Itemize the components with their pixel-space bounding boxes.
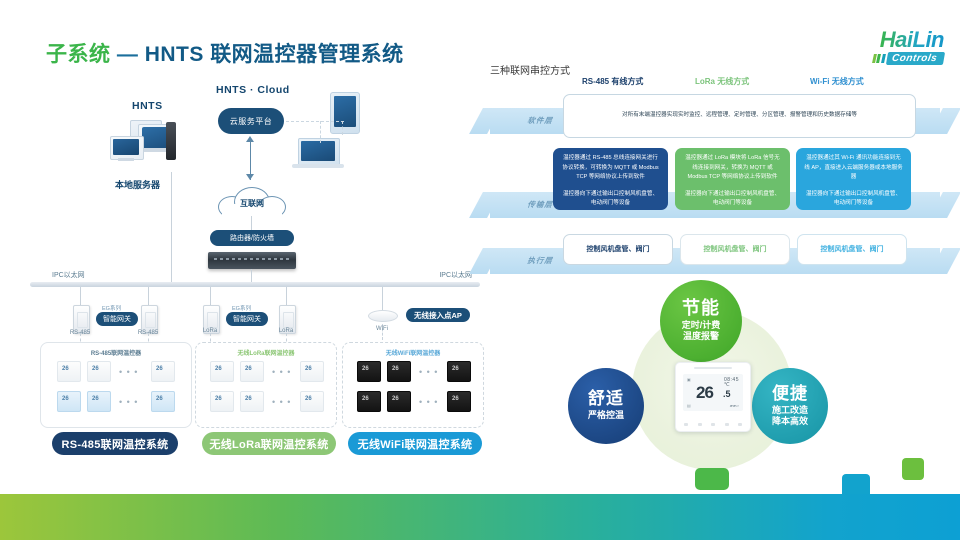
card-transport-wifi-p1: 温控器通过其 Wi-Fi 通讯功能连接到无线 AP，直接进入云端服务器或本地服务… [804,154,903,183]
tablet-icon [330,92,360,134]
card-transport-lora[interactable]: 温控器通过 LoRa 模块将 LoRa 信号无线连接到网关，转换为 MQTT 或… [675,148,790,210]
protocol-lora-2: LoRa [272,328,300,334]
thermostat-reading: 26 [215,396,222,402]
badge-wifi-system[interactable]: 无线WiFi联网温控系统 [348,432,482,455]
protocol-rs485-1: RS-485 [64,330,96,336]
group-lora-title: 无线LoRa联网温控器 [196,348,336,357]
thermostat-fan-icon: ▤ [687,403,691,408]
ellipsis: • • • [419,397,438,407]
benefit-bubble-comfort[interactable]: 舒适 严格控温 [568,368,644,444]
card-exec-wifi-text: 控制风机盘管、阀门 [821,244,884,256]
thermostat-reading: 26 [92,366,99,372]
thermostat-cell[interactable]: 26 [240,391,264,412]
title-prefix: 子系统 [46,43,111,66]
gw3-drop [210,287,211,305]
card-transport-wifi-p2: 温控器向下通过输出口控制风机盘管、电动阀门等设备 [804,190,903,209]
ellipsis: • • • [272,397,291,407]
router-bus-link [251,269,252,283]
network-topology-diagram: HNTS 本地服务器 HNTS · Cloud 云服务平台 [30,80,480,460]
cloud-title: HNTS · Cloud [216,84,290,96]
thermostat-unit: ℃ [724,382,730,388]
group-rs485: RS-485联网温控器 26 26 • • • 26 26 26 • • • 2… [40,342,192,428]
thermostat-cell[interactable]: 26 [357,361,381,382]
thermostat-reading: 26 [362,396,369,402]
benefit-energy-line2: 温度报警 [683,331,719,342]
ap-drop [382,287,383,310]
thermostat-cell[interactable]: 26 [300,391,324,412]
thermostat-cell[interactable]: 26 [57,391,81,412]
title-dash: — [117,43,139,66]
thermostat-reading: 26 [245,396,252,402]
protocol-wifi: WiFi [368,326,396,332]
band-execution-label: 执行层 [526,255,556,266]
cloud-platform-node[interactable]: 云服务平台 [218,108,284,134]
thermostat-reading: 26 [362,366,369,372]
thermostat-cell[interactable]: 26 [151,361,175,382]
column-head-rs485: RS-485 有线方式 [582,76,643,87]
ellipsis: • • • [119,397,138,407]
cloud-to-laptop-link [320,121,321,143]
card-exec-rs485[interactable]: 控制风机盘管、阀门 [563,234,673,265]
logo-wordmark: HaiLin [836,30,944,50]
ellipsis: • • • [272,367,291,377]
column-head-wifi: Wi-Fi 无线方式 [810,76,864,87]
group-wifi: 无线WiFi联网温控器 26 26 • • • 26 26 26 • • • 2… [342,342,484,428]
badge-rs485-system[interactable]: RS-485联网温控系统 [52,432,178,455]
thermostat-reading: 26 [92,396,99,402]
band-software-label: 软件层 [526,115,556,126]
internet-cloud-icon: 互联网 [212,184,292,218]
ethernet-backbone [30,282,480,287]
router-label: 路由器/防火墙 [210,230,294,246]
slide-root: 子系统 — HNTS 联网温控器管理系统 HaiLin Controls HNT… [0,0,960,540]
thermostat-reading: 26 [452,396,459,402]
thermostat-cell[interactable]: 26 [151,391,175,412]
local-server-cluster-icon [108,118,176,174]
internet-label: 互联网 [212,198,292,209]
router-device-icon [208,252,296,269]
thermostat-reading: 26 [392,366,399,372]
thermostat-reading: 26 [452,366,459,372]
protocol-rs485-2: RS-485 [132,330,164,336]
bottom-gradient-bar [0,494,960,540]
benefit-energy-title: 节能 [682,299,720,318]
gateway-series-label-2: EG系列 [232,304,251,312]
gw2-drop [148,287,149,305]
benefit-convenient-title: 便捷 [772,385,808,403]
layers-panel: 三种联网串控方式 RS-485 有线方式 LoRa 无线方式 Wi-Fi 无线方… [490,62,940,282]
thermostat-screen: ▣ 08:45 26 .5 ℃ ▤ ▰▰▱ [683,374,743,411]
gateway-series-label-1: EG系列 [102,304,121,312]
benefits-bottom-tag [695,468,729,490]
benefit-energy-line1: 定时/计费 [682,320,721,331]
thermostat-reading: 26 [245,366,252,372]
protocol-lora-1: LoRa [196,328,224,334]
card-transport-lora-p2: 温控器向下通过输出口控制风机盘管、电动阀门等设备 [683,190,782,209]
badge-lora-system[interactable]: 无线LoRa联网温控系统 [202,432,336,455]
card-transport-rs485[interactable]: 温控器通过 RS-485 总线连接网关进行协议转换，可转换为 MQTT 或 Mo… [553,148,668,210]
thermostat-reading: 26 [62,396,69,402]
thermostat-temp-decimal: .5 [723,389,731,399]
laptop-icon [292,138,344,170]
benefit-comfort-title: 舒适 [588,390,624,408]
thermostat-device[interactable]: ▣ 08:45 26 .5 ℃ ▤ ▰▰▱ [675,362,751,432]
thermostat-signal-icon: ▰▰▱ [730,403,739,408]
thermostat-cell[interactable]: 26 [387,361,411,382]
group-wifi-title: 无线WiFi联网温控器 [343,348,483,357]
thermostat-buttons[interactable] [684,423,742,426]
decor-square-green [902,458,924,480]
group-rs485-title: RS-485联网温控器 [41,348,191,357]
card-transport-wifi[interactable]: 温控器通过其 Wi-Fi 通讯功能连接到无线 AP，直接进入云端服务器或本地服务… [796,148,911,210]
benefit-bubble-convenient[interactable]: 便捷 施工改造 降本高效 [752,368,828,444]
cloud-tablet-drop [342,121,343,135]
thermostat-cell[interactable]: 26 [87,391,111,412]
arrow-down-icon [246,174,254,180]
card-exec-lora-text: 控制风机盘管、阀门 [704,244,767,256]
wireless-ap-icon[interactable] [368,310,398,322]
thermostat-reading: 26 [156,396,163,402]
thermostat-reading: 26 [305,366,312,372]
title-main: HNTS 联网温控器管理系统 [145,43,404,66]
card-exec-rs485-text: 控制风机盘管、阀门 [587,244,650,256]
thermostat-cell[interactable]: 26 [210,361,234,382]
thermostat-temp: 26 [696,383,713,403]
ethernet-label-left: IPC以太网 [52,270,85,280]
card-transport-rs485-p1: 温控器通过 RS-485 总线连接网关进行协议转换，可转换为 MQTT 或 Mo… [561,154,660,183]
hnts-label: HNTS [132,100,163,112]
thermostat-mode-icon: ▣ [687,377,691,382]
card-software-layer[interactable]: 对所有末端温控器实现实时监控、远程管理、定时管理、分区管理、报警管理和历史数据存… [563,94,916,138]
gw1-drop [80,287,81,305]
page-title: 子系统 — HNTS 联网温控器管理系统 [46,38,404,68]
benefit-bubble-energy[interactable]: 节能 定时/计费 温度报警 [660,280,742,362]
layers-heading: 三种联网串控方式 [490,62,570,77]
band-transport-label: 传输层 [526,199,556,210]
wireless-ap-label[interactable]: 无线接入点AP [406,308,470,322]
benefit-convenient-line1: 施工改造 [772,405,808,416]
thermostat-cell[interactable]: 26 [240,361,264,382]
thermostat-cell[interactable]: 26 [357,391,381,412]
benefits-cluster: 节能 定时/计费 温度报警 舒适 严格控温 便捷 施工改造 降本高效 ▣ 08:… [560,280,860,490]
thermostat-cell[interactable]: 26 [300,361,324,382]
thermostat-cell[interactable]: 26 [87,361,111,382]
thermostat-cell[interactable]: 26 [210,391,234,412]
server-bus-link [171,172,172,282]
card-transport-rs485-p2: 温控器向下通过输出口控制风机盘管、电动阀门等设备 [561,190,660,209]
thermostat-top-strip [694,367,732,369]
thermostat-cell[interactable]: 26 [447,361,471,382]
local-server-label: 本地服务器 [115,178,160,191]
arrow-up-icon [246,136,254,142]
thermostat-cell[interactable]: 26 [447,391,471,412]
cloud-to-tablet-link [286,121,344,123]
thermostat-reading: 26 [156,366,163,372]
thermostat-cell[interactable]: 26 [387,391,411,412]
column-head-lora: LoRa 无线方式 [695,76,749,87]
card-software-text: 对所有末端温控器实现实时监控、远程管理、定时管理、分区管理、报警管理和历史数据存… [622,111,857,121]
group-lora: 无线LoRa联网温控器 26 26 • • • 26 26 26 • • • 2… [195,342,337,428]
gateway-label-2[interactable]: 智能网关 [226,312,268,326]
thermostat-reading: 26 [215,366,222,372]
thermostat-reading: 26 [305,396,312,402]
thermostat-cell[interactable]: 26 [57,361,81,382]
gw4-drop [286,287,287,305]
benefit-comfort-line1: 严格控温 [588,410,624,421]
card-exec-wifi[interactable]: 控制风机盘管、阀门 [797,234,907,265]
benefit-convenient-line2: 降本高效 [772,416,808,427]
card-exec-lora[interactable]: 控制风机盘管、阀门 [680,234,790,265]
thermostat-reading: 26 [392,396,399,402]
thermostat-reading: 26 [62,366,69,372]
ellipsis: • • • [419,367,438,377]
ellipsis: • • • [119,367,138,377]
card-transport-lora-p1: 温控器通过 LoRa 模块将 LoRa 信号无线连接到网关，转换为 MQTT 或… [683,154,782,183]
ethernet-label-right: IPC以太网 [439,270,472,280]
gateway-label-1[interactable]: 智能网关 [96,312,138,326]
